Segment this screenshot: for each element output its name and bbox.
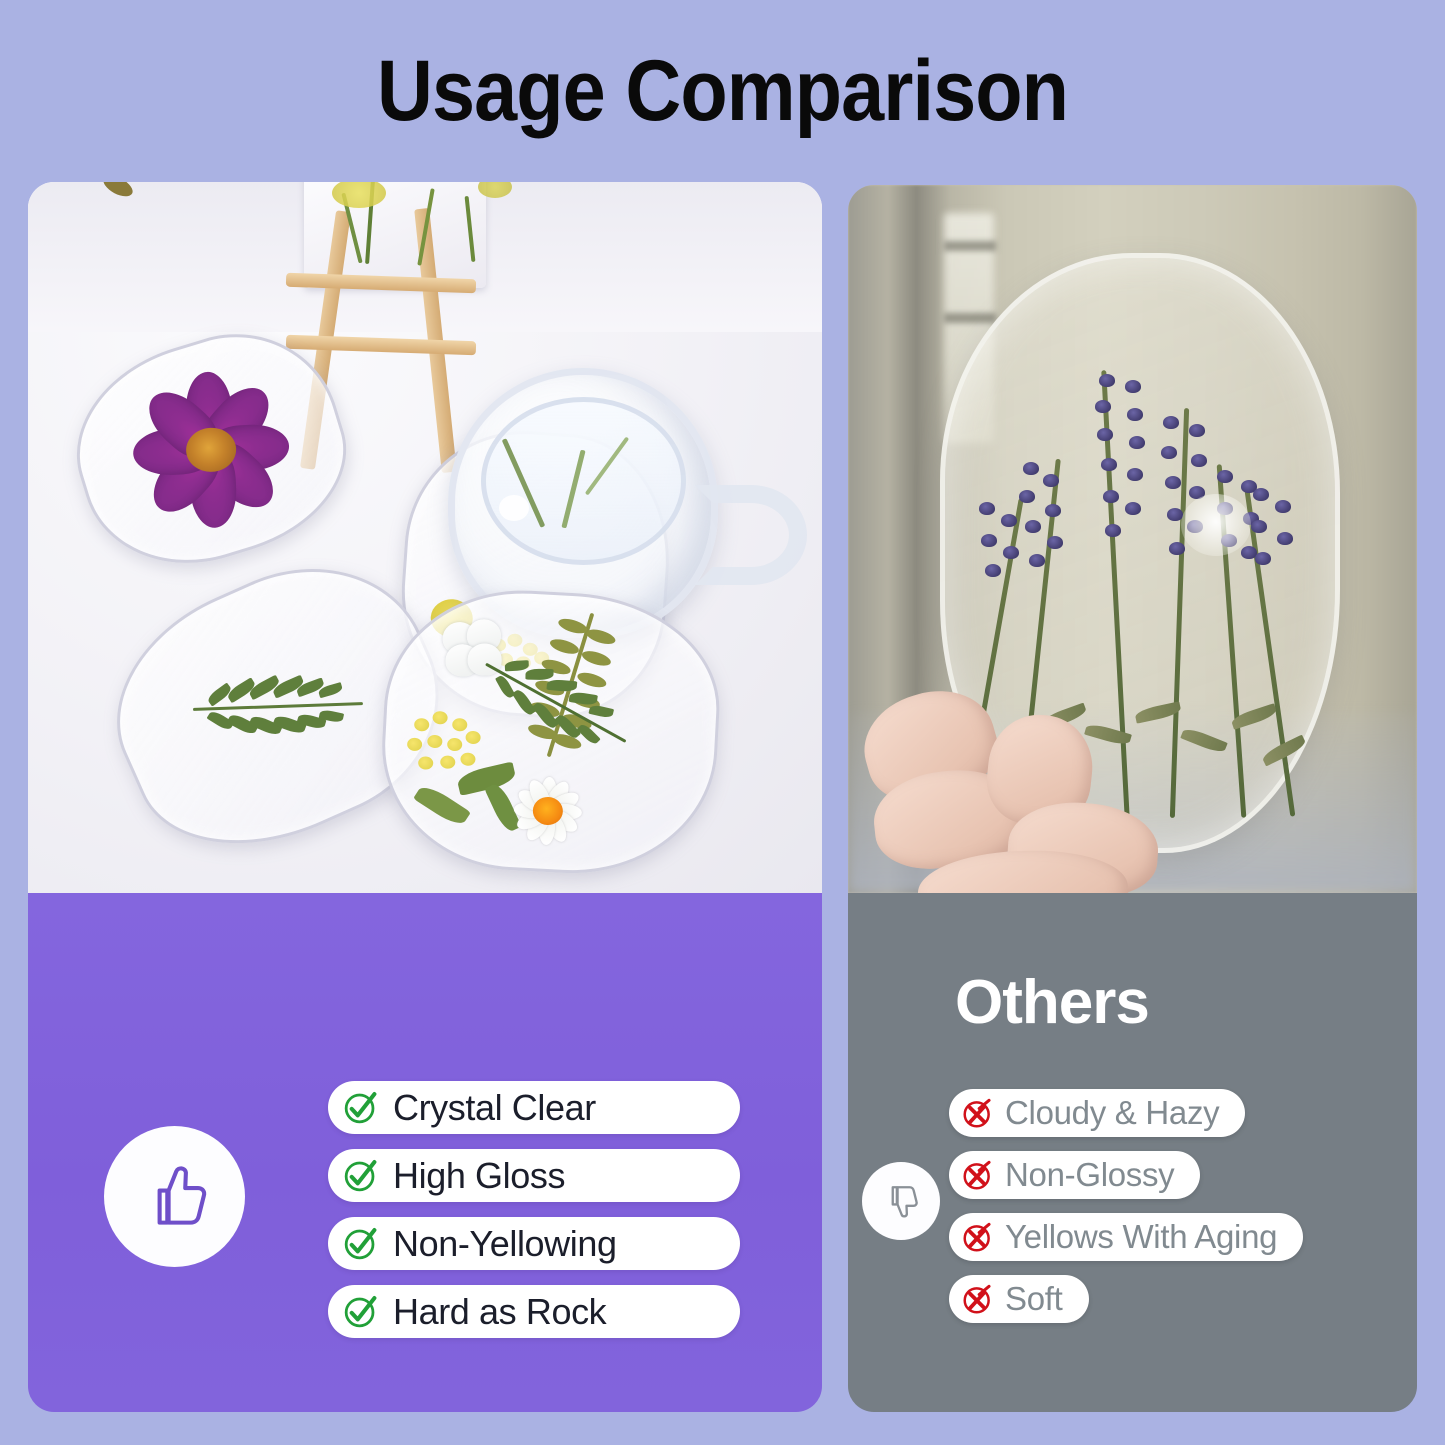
white-dried-bloom	[1181, 494, 1251, 556]
benefit-label: Hard as Rock	[393, 1291, 606, 1333]
benefit-item-1[interactable]: Crystal Clear	[328, 1081, 740, 1134]
benefit-label: Crystal Clear	[393, 1087, 596, 1129]
drawback-label: Non-Glossy	[1005, 1156, 1174, 1194]
hand-holding-tray	[858, 653, 1188, 893]
drawback-label: Cloudy & Hazy	[1005, 1094, 1219, 1132]
left-product-photo	[28, 182, 822, 893]
others-heading: Others	[955, 967, 1149, 1038]
right-product-photo	[848, 185, 1417, 893]
pressed-fern-frond	[193, 694, 364, 720]
thumbs-down-icon	[879, 1179, 923, 1223]
pressed-daisy	[504, 769, 592, 853]
check-circle-icon	[342, 1157, 379, 1194]
window-frame-bar-mid	[944, 313, 996, 323]
cross-circle-icon	[961, 1221, 994, 1254]
drawback-item-1[interactable]: Cloudy & Hazy	[949, 1089, 1245, 1137]
drawbacks-list: Cloudy & Hazy Non-Glossy Yellows With Ag…	[949, 1089, 1303, 1337]
drawback-item-4[interactable]: Soft	[949, 1275, 1089, 1323]
benefit-label: High Gloss	[393, 1155, 565, 1197]
page-title: Usage Comparison	[72, 42, 1373, 141]
check-circle-icon	[342, 1225, 379, 1262]
check-circle-icon	[342, 1293, 379, 1330]
coaster-botanical-mix	[376, 583, 725, 880]
window-frame-bar-top	[944, 241, 996, 251]
benefits-list: Crystal Clear High Gloss Non-Yellowing H…	[328, 1081, 740, 1353]
drawback-label: Yellows With Aging	[1005, 1218, 1277, 1256]
cup-handle	[695, 485, 807, 585]
thumbs-down-badge	[862, 1162, 940, 1240]
dried-sprigs	[328, 182, 518, 306]
cross-circle-icon	[961, 1159, 994, 1192]
benefit-label: Non-Yellowing	[393, 1223, 617, 1265]
cross-circle-icon	[961, 1283, 994, 1316]
cross-circle-icon	[961, 1097, 994, 1130]
drawback-label: Soft	[1005, 1280, 1063, 1318]
thumbs-up-icon	[134, 1156, 216, 1238]
drawback-item-2[interactable]: Non-Glossy	[949, 1151, 1200, 1199]
drawback-item-3[interactable]: Yellows With Aging	[949, 1213, 1303, 1261]
benefit-item-3[interactable]: Non-Yellowing	[328, 1217, 740, 1270]
thumbs-up-badge	[104, 1126, 245, 1267]
benefit-item-4[interactable]: Hard as Rock	[328, 1285, 740, 1338]
pressed-cosmos-flower	[116, 365, 304, 534]
easel-rail-bottom	[286, 335, 476, 356]
check-circle-icon	[342, 1089, 379, 1126]
benefit-item-2[interactable]: High Gloss	[328, 1149, 740, 1202]
cup-water-surface	[481, 397, 686, 565]
